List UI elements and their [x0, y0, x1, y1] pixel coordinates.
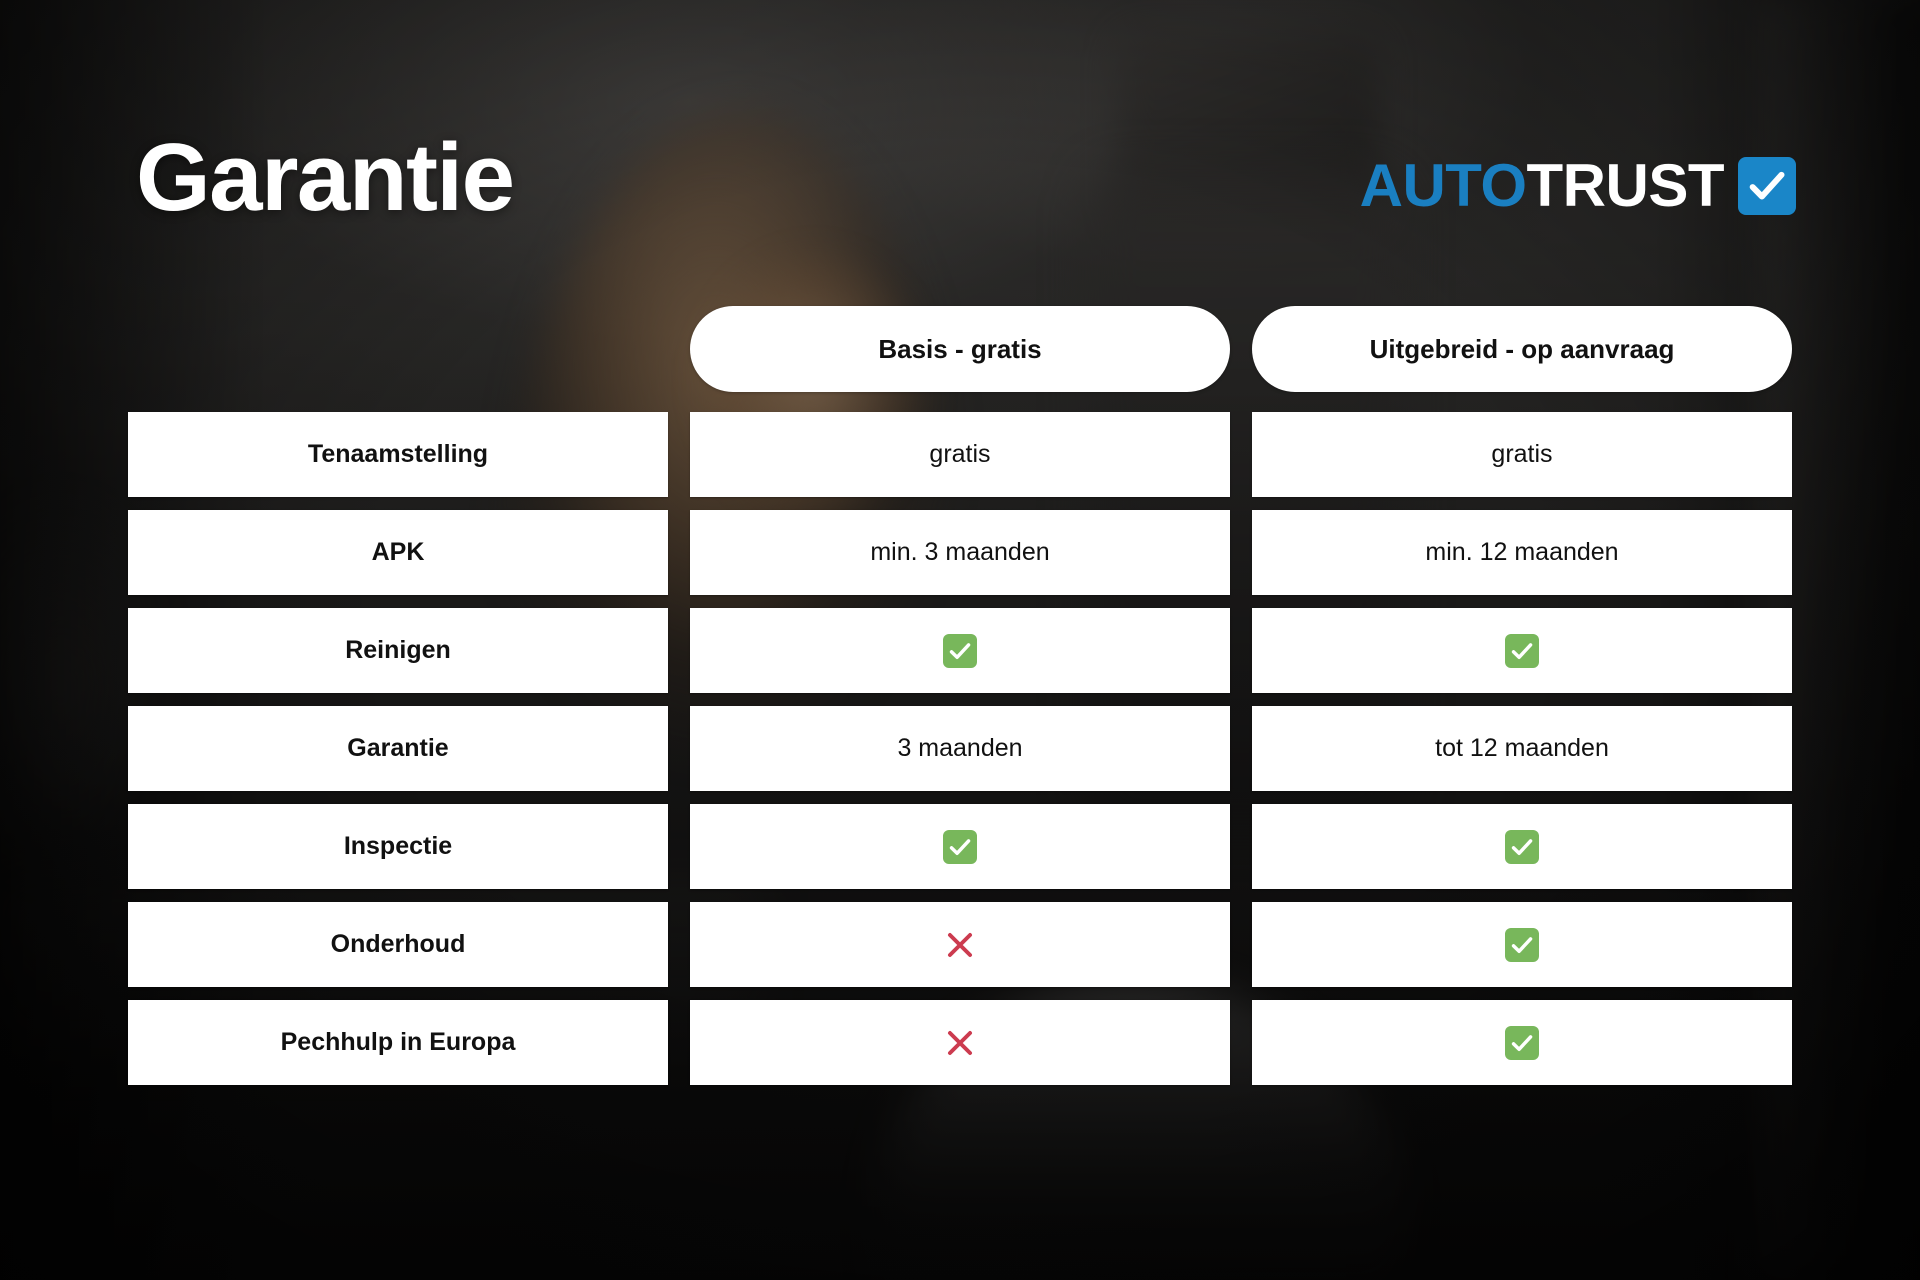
brand-wordmark: AUTOTRUST — [1360, 156, 1724, 216]
column-gap — [1230, 706, 1252, 791]
table-row: Pechhulp in Europa — [128, 1000, 1792, 1085]
row-label: APK — [128, 510, 668, 595]
table-row: Garantie3 maandentot 12 maanden — [128, 706, 1792, 791]
cell-value — [1252, 608, 1792, 693]
column-gap — [1230, 608, 1252, 693]
brand-name-auto: AUTO — [1360, 152, 1527, 219]
column-gap — [668, 510, 690, 595]
row-label: Tenaamstelling — [128, 412, 668, 497]
column-gap — [1230, 902, 1252, 987]
cell-value — [690, 902, 1230, 987]
row-label: Pechhulp in Europa — [128, 1000, 668, 1085]
slide-canvas: Garantie AUTOTRUST Basis - gratis Uitgeb… — [0, 0, 1920, 1280]
column-gap — [668, 412, 690, 497]
column-header-uitgebreid[interactable]: Uitgebreid - op aanvraag — [1252, 306, 1792, 392]
cell-value — [690, 608, 1230, 693]
comparison-table: Basis - gratis Uitgebreid - op aanvraag … — [128, 306, 1792, 1085]
column-gap — [668, 1000, 690, 1085]
cell-value — [1252, 804, 1792, 889]
table-header-spacer — [128, 306, 668, 392]
column-gap — [668, 706, 690, 791]
green-check-icon — [1505, 928, 1539, 962]
table-row: Inspectie — [128, 804, 1792, 889]
row-label: Onderhoud — [128, 902, 668, 987]
red-cross-icon — [942, 927, 978, 963]
red-cross-icon — [942, 1025, 978, 1061]
cell-value: gratis — [690, 412, 1230, 497]
cell-value: 3 maanden — [690, 706, 1230, 791]
column-gap — [668, 902, 690, 987]
table-row: Tenaamstellinggratisgratis — [128, 412, 1792, 497]
cell-value — [690, 1000, 1230, 1085]
row-label: Garantie — [128, 706, 668, 791]
column-gap — [1230, 1000, 1252, 1085]
page-title: Garantie — [136, 130, 513, 226]
column-gap — [668, 608, 690, 693]
column-gap — [1230, 306, 1252, 392]
check-badge-icon — [1738, 157, 1796, 215]
cell-value — [690, 804, 1230, 889]
column-gap — [1230, 510, 1252, 595]
column-gap — [1230, 412, 1252, 497]
cell-value — [1252, 902, 1792, 987]
cell-value: min. 3 maanden — [690, 510, 1230, 595]
green-check-icon — [1505, 634, 1539, 668]
row-label: Inspectie — [128, 804, 668, 889]
table-body: TenaamstellinggratisgratisAPKmin. 3 maan… — [128, 412, 1792, 1085]
cell-value: min. 12 maanden — [1252, 510, 1792, 595]
green-check-icon — [943, 830, 977, 864]
column-header-basis[interactable]: Basis - gratis — [690, 306, 1230, 392]
green-check-icon — [1505, 1026, 1539, 1060]
cell-value — [1252, 1000, 1792, 1085]
column-gap — [668, 804, 690, 889]
column-gap — [1230, 804, 1252, 889]
column-gap — [668, 306, 690, 392]
table-row: Onderhoud — [128, 902, 1792, 987]
row-label: Reinigen — [128, 608, 668, 693]
cell-value: gratis — [1252, 412, 1792, 497]
table-row: APKmin. 3 maandenmin. 12 maanden — [128, 510, 1792, 595]
autotrust-logo: AUTOTRUST — [1360, 152, 1796, 220]
cell-value: tot 12 maanden — [1252, 706, 1792, 791]
green-check-icon — [1505, 830, 1539, 864]
table-row: Reinigen — [128, 608, 1792, 693]
brand-name-trust: TRUST — [1527, 152, 1724, 219]
green-check-icon — [943, 634, 977, 668]
table-header-row: Basis - gratis Uitgebreid - op aanvraag — [128, 306, 1792, 392]
